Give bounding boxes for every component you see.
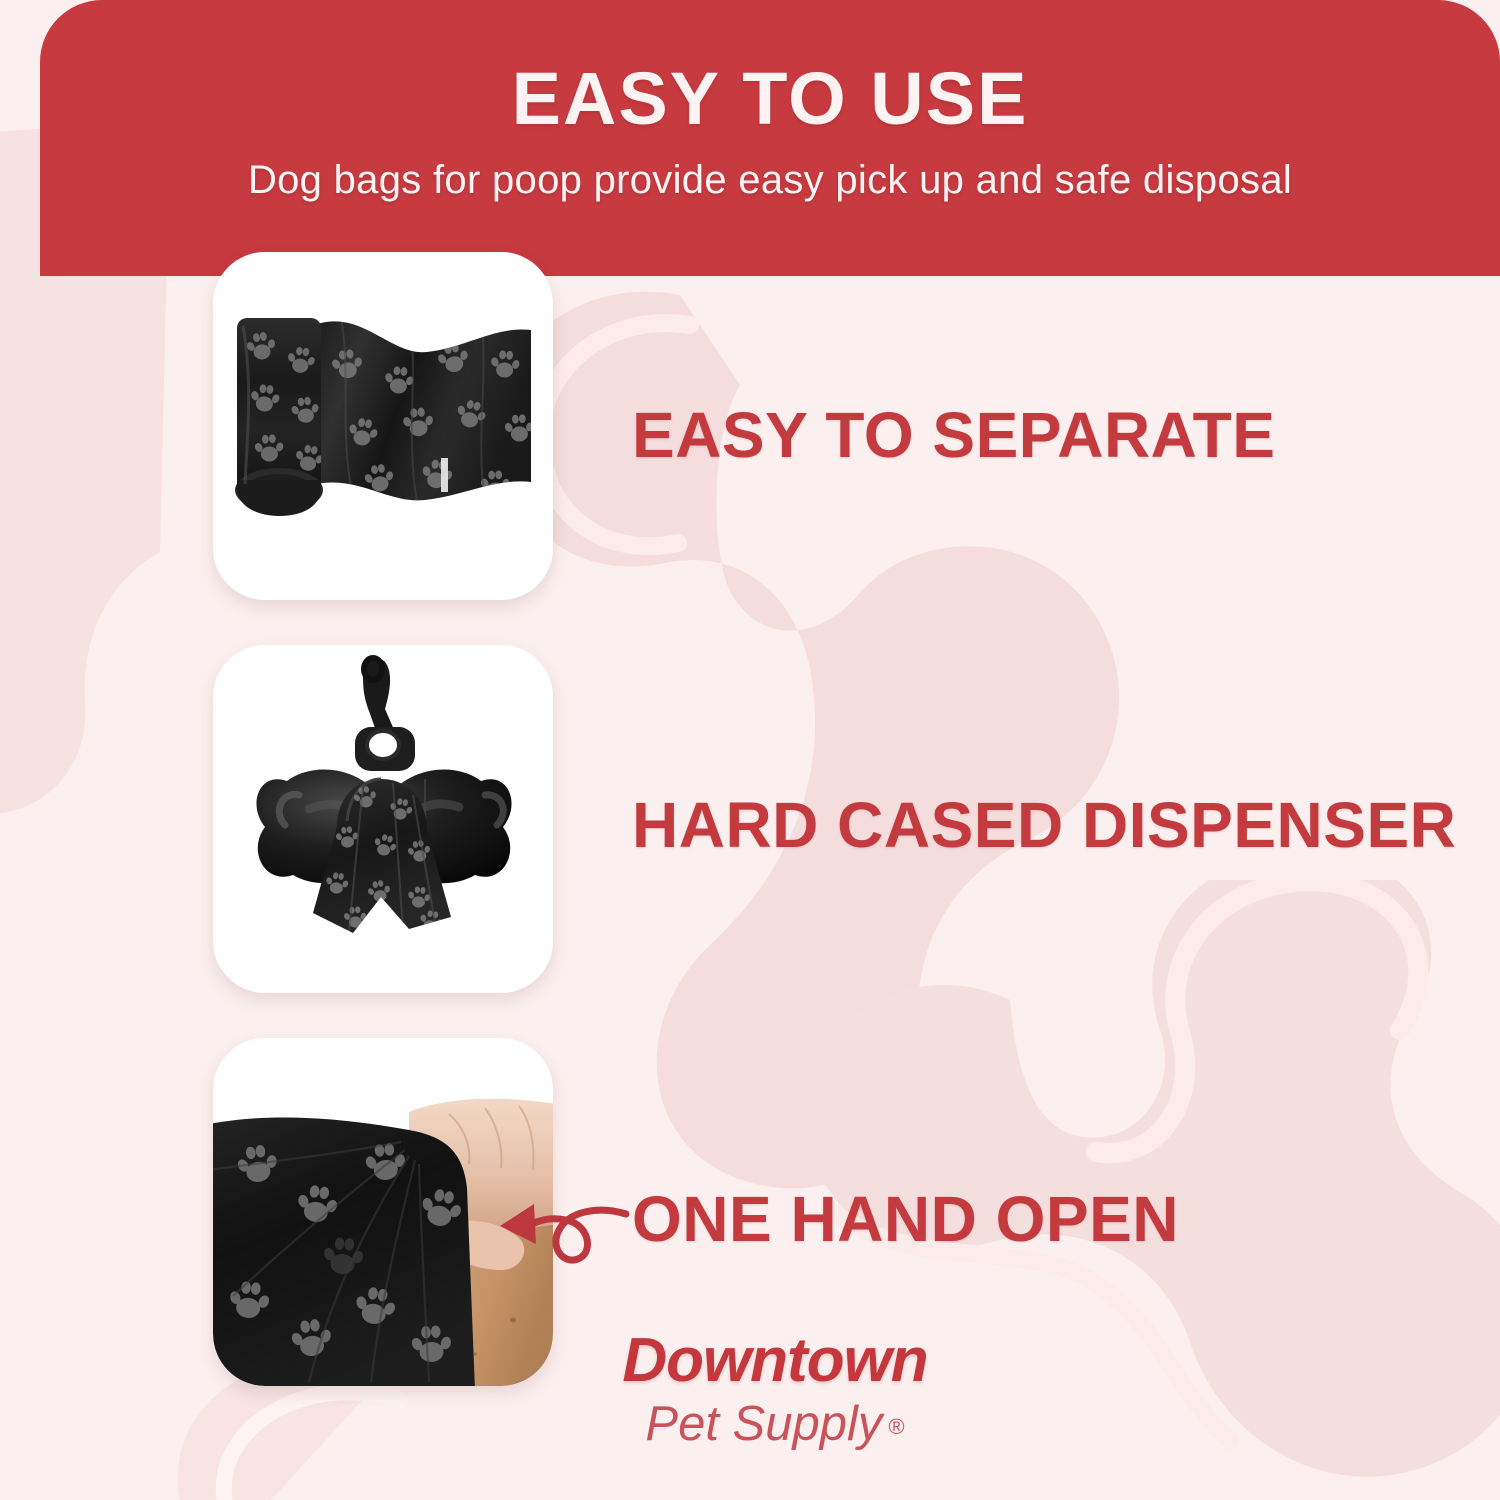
feature-label-hard-cased-dispenser: HARD CASED DISPENSER (632, 788, 1456, 862)
logo-line-pet-supply: Pet Supply (645, 1397, 882, 1451)
feature-label-one-hand-open: ONE HAND OPEN (632, 1182, 1179, 1256)
page-subtitle: Dog bags for poop provide easy pick up a… (40, 158, 1500, 203)
roll-of-black-poop-bags-with-gray-paw-prints (213, 252, 553, 600)
curly-arrow-pointing-left-icon (492, 1180, 632, 1280)
feature-label-easy-to-separate: EASY TO SEPARATE (632, 398, 1275, 472)
feature-image-card-1[interactable] (213, 252, 553, 600)
feature-image-card-2[interactable] (213, 645, 553, 993)
header-banner: EASY TO USE Dog bags for poop provide ea… (40, 0, 1500, 276)
logo-line-downtown: Downtown (560, 1330, 990, 1392)
bone-shaped-black-dispenser-with-clip (213, 645, 553, 993)
brand-logo: Downtown Pet Supply® (560, 1330, 990, 1449)
registered-trademark-icon: ® (888, 1414, 904, 1439)
page-title: EASY TO USE (40, 62, 1500, 136)
product-infographic: EASY TO USE Dog bags for poop provide ea… (0, 0, 1500, 1500)
